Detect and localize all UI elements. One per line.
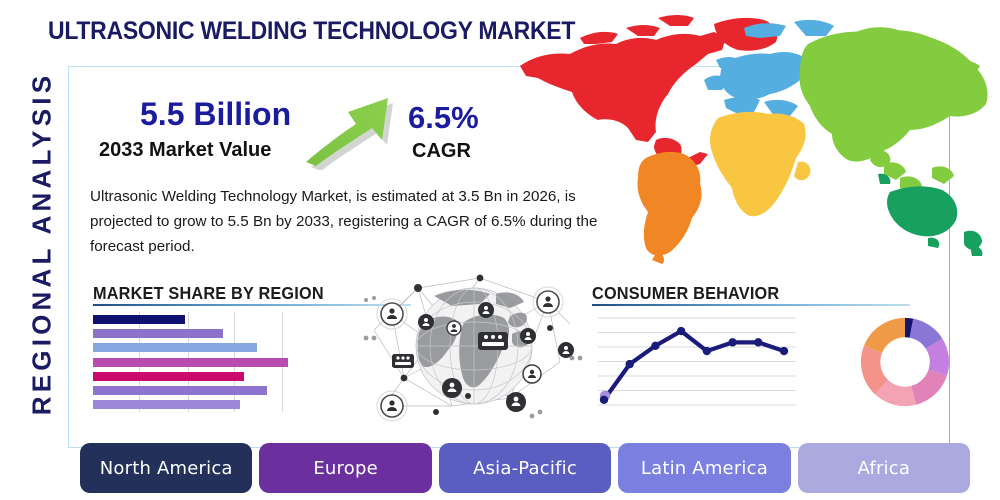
region-button-europe[interactable]: Europe <box>259 443 431 493</box>
bar-row <box>93 358 288 367</box>
map-region-oceania <box>878 174 982 256</box>
donut-segment <box>911 370 947 405</box>
bar <box>93 358 288 367</box>
infographic-root: REGIONAL ANALYSIS ULTRASONIC WELDING TEC… <box>0 0 1000 500</box>
bar-row <box>93 372 244 381</box>
globe-network-icon <box>360 266 588 428</box>
market-share-heading: MARKET SHARE BY REGION <box>93 283 324 304</box>
growth-arrow-icon <box>300 82 412 170</box>
cagr-caption: CAGR <box>412 140 471 163</box>
map-region-south-america <box>637 152 701 264</box>
side-label: REGIONAL ANALYSIS <box>27 34 58 454</box>
bar <box>93 315 185 324</box>
page-title: ULTRASONIC WELDING TECHNOLOGY MARKET <box>48 17 575 46</box>
donut-segment <box>864 318 905 353</box>
region-button-group: North AmericaEuropeAsia-PacificLatin Ame… <box>80 443 970 493</box>
region-button-label: Asia-Pacific <box>473 458 577 479</box>
map-region-africa <box>710 112 810 216</box>
region-button-label: North America <box>100 458 233 479</box>
consumer-behavior-line-chart <box>598 310 796 415</box>
bar <box>93 386 267 395</box>
bar <box>93 400 240 409</box>
world-map <box>508 2 1000 264</box>
market-value-caption: 2033 Market Value <box>99 139 271 162</box>
data-point <box>600 396 608 404</box>
bar <box>93 372 244 381</box>
region-button-label: Latin America <box>641 458 768 479</box>
consumer-behavior-rule <box>592 304 910 306</box>
cagr-value: 6.5% <box>408 100 479 136</box>
region-button-africa[interactable]: Africa <box>798 443 970 493</box>
region-button-label: Africa <box>858 458 911 479</box>
consumer-behavior-heading: CONSUMER BEHAVIOR <box>592 283 779 304</box>
region-button-north-america[interactable]: North America <box>80 443 252 493</box>
bar-row <box>93 315 185 324</box>
bar-row <box>93 343 257 352</box>
data-point <box>703 347 711 355</box>
bar-row <box>93 386 267 395</box>
bar-row <box>93 329 223 338</box>
bar <box>93 329 223 338</box>
market-share-bar-chart <box>93 312 303 412</box>
region-button-latin-america[interactable]: Latin America <box>618 443 790 493</box>
data-point <box>677 327 685 335</box>
bar-chart-bars <box>93 312 303 412</box>
map-region-asia <box>799 27 987 202</box>
market-value: 5.5 Billion <box>140 96 291 133</box>
data-point <box>651 342 659 350</box>
data-point <box>780 347 788 355</box>
region-share-donut-chart <box>856 310 954 414</box>
data-point <box>728 338 736 346</box>
region-button-asia-pacific[interactable]: Asia-Pacific <box>439 443 611 493</box>
bar <box>93 343 257 352</box>
region-button-label: Europe <box>313 458 378 479</box>
data-point <box>626 360 634 368</box>
bar-row <box>93 400 240 409</box>
data-point <box>754 338 762 346</box>
